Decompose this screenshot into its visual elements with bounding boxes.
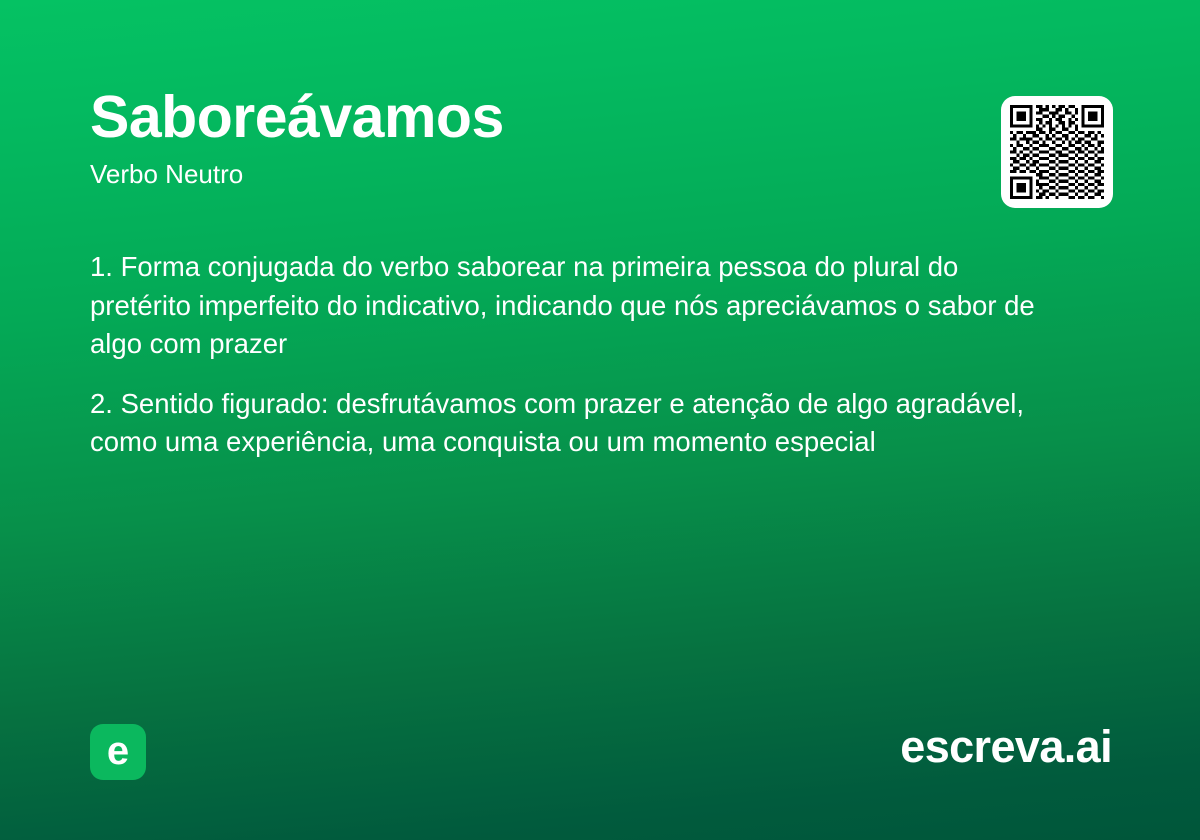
definition-list: 1. Forma conjugada do verbo saborear na … [90, 248, 1062, 462]
word-class-label: Verbo Neutro [90, 160, 1110, 189]
card-header: Saboreávamos Verbo Neutro [90, 86, 1110, 188]
qr-code-card[interactable] [1001, 96, 1113, 208]
dictionary-card: Saboreávamos Verbo Neutro 1. Forma conju… [0, 0, 1200, 840]
page-title: Saboreávamos [90, 86, 1110, 150]
definition-item: 1. Forma conjugada do verbo saborear na … [90, 248, 1062, 364]
brand-wordmark: escreva.ai [900, 722, 1112, 772]
brand-logo: e [90, 724, 146, 780]
brand-logo-letter: e [107, 731, 129, 771]
qr-code-icon [1010, 105, 1104, 199]
definition-item: 2. Sentido figurado: desfrutávamos com p… [90, 385, 1062, 462]
